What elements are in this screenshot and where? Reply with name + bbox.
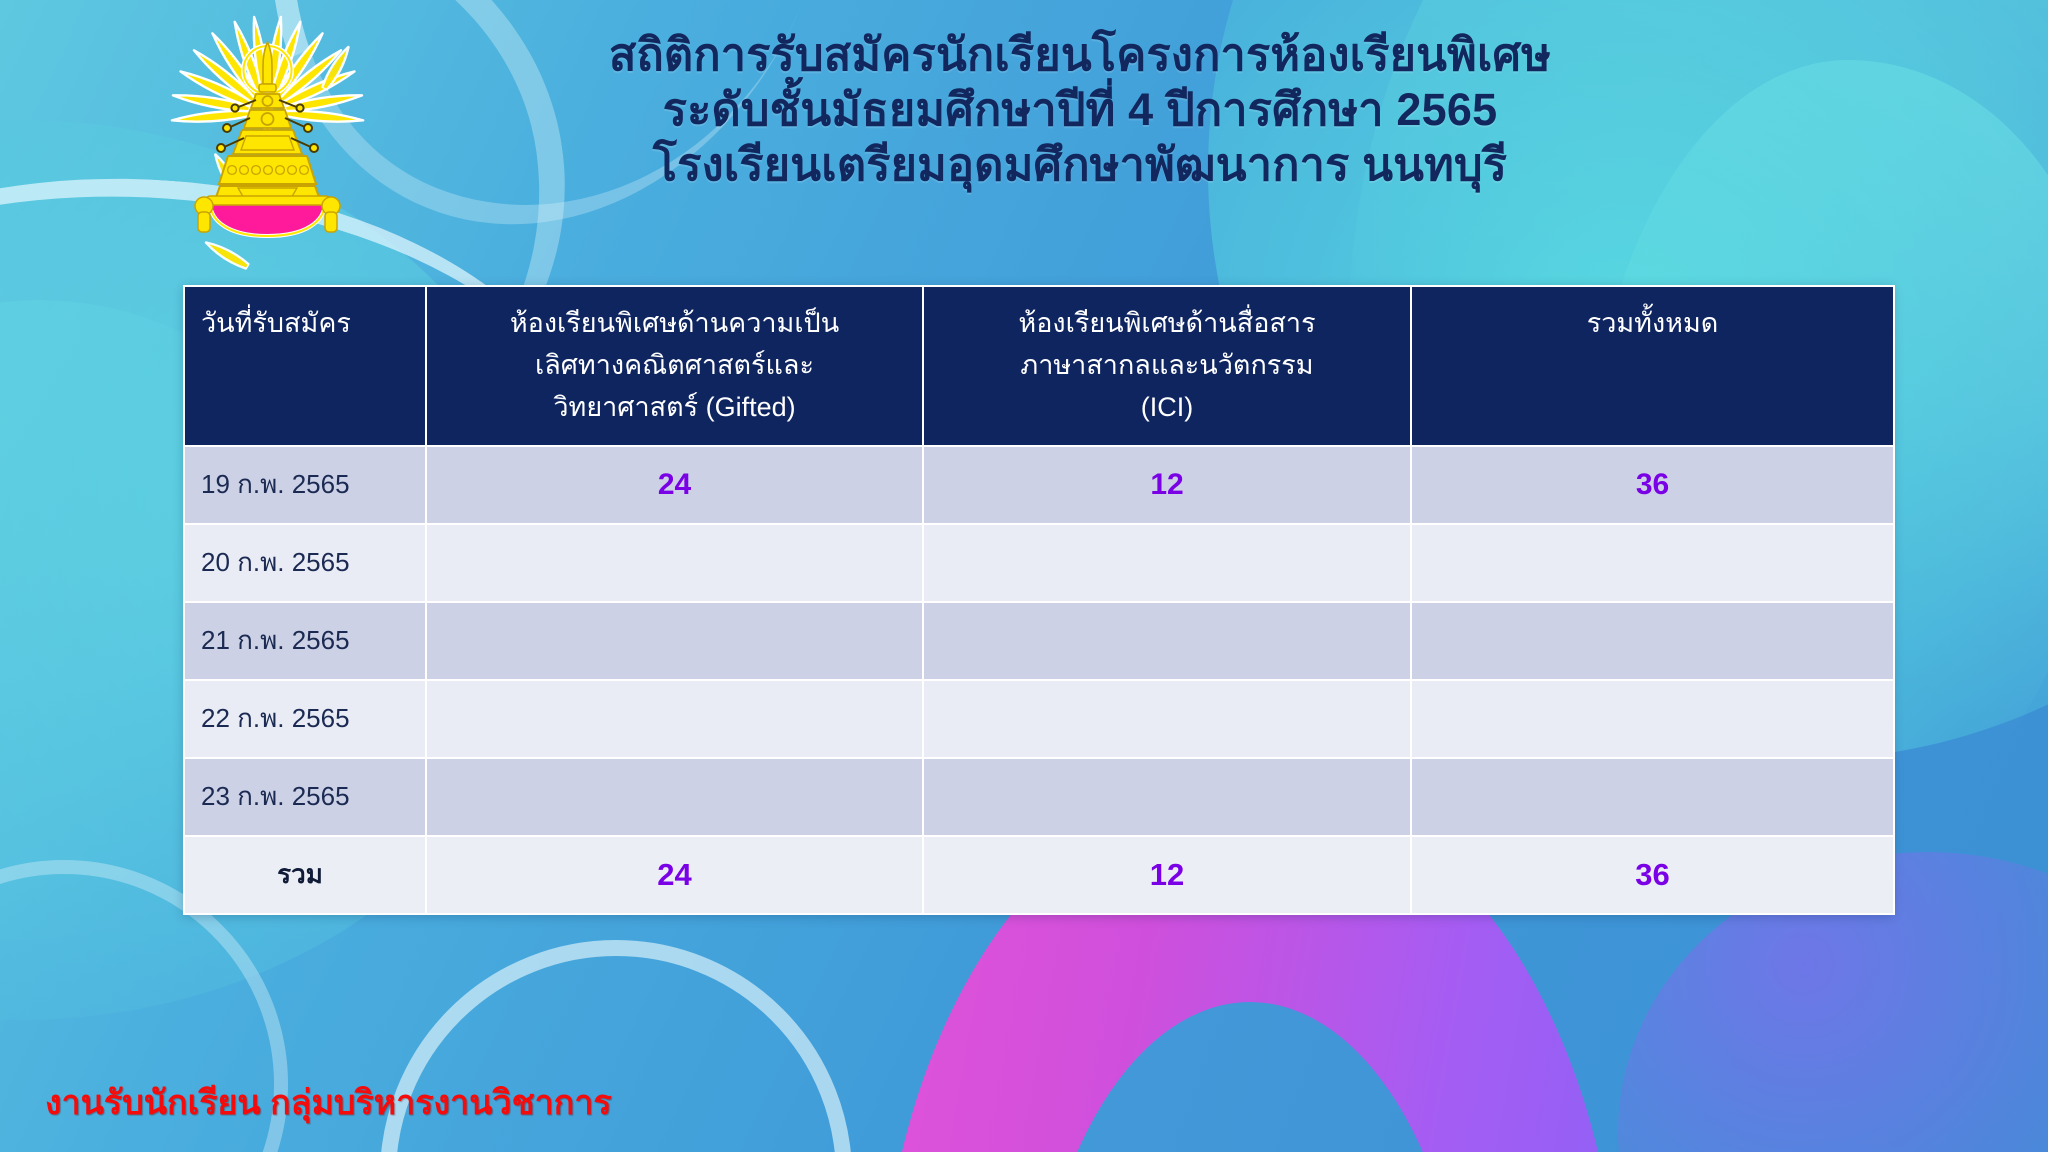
cell-ici xyxy=(923,758,1411,836)
cell-total: 36 xyxy=(1411,446,1894,524)
column-header-gifted-line-2: เลิศทางคณิตศาสตร์และ xyxy=(437,345,912,387)
cell-ici xyxy=(923,524,1411,602)
cell-total xyxy=(1411,758,1894,836)
cell-date: 21 ก.พ. 2565 xyxy=(184,602,426,680)
title-line-3: โรงเรียนเตรียมอุดมศึกษาพัฒนาการ นนทบุรี xyxy=(380,138,1780,193)
cell-gifted xyxy=(426,524,923,602)
column-header-ici-line-2: ภาษาสากลและนวัตกรรม xyxy=(934,345,1400,387)
title-line-1: สถิติการรับสมัครนักเรียนโครงการห้องเรียน… xyxy=(380,28,1780,83)
cell-total-label: รวม xyxy=(184,836,426,914)
column-header-ici-line-3: (ICI) xyxy=(934,387,1400,429)
cell-date: 19 ก.พ. 2565 xyxy=(184,446,426,524)
statistics-table-container: วันที่รับสมัคร ห้องเรียนพิเศษด้านความเป็… xyxy=(183,285,1893,915)
cell-total-grand: 36 xyxy=(1411,836,1894,914)
page-title: สถิติการรับสมัครนักเรียนโครงการห้องเรียน… xyxy=(380,28,1780,193)
table-header: วันที่รับสมัคร ห้องเรียนพิเศษด้านความเป็… xyxy=(184,286,1894,446)
column-header-ici: ห้องเรียนพิเศษด้านสื่อสาร ภาษาสากลและนวั… xyxy=(923,286,1411,446)
cell-gifted xyxy=(426,680,923,758)
table-row: 20 ก.พ. 2565 xyxy=(184,524,1894,602)
table-row: 22 ก.พ. 2565 xyxy=(184,680,1894,758)
school-emblem xyxy=(160,8,375,273)
cell-gifted xyxy=(426,758,923,836)
cell-ici xyxy=(923,680,1411,758)
cell-total xyxy=(1411,602,1894,680)
cell-date: 23 ก.พ. 2565 xyxy=(184,758,426,836)
cell-total xyxy=(1411,680,1894,758)
cell-total-ici: 12 xyxy=(923,836,1411,914)
cell-gifted xyxy=(426,602,923,680)
column-header-date: วันที่รับสมัคร xyxy=(184,286,426,446)
table-row: 23 ก.พ. 2565 xyxy=(184,758,1894,836)
column-header-gifted-line-3: วิทยาศาสตร์ (Gifted) xyxy=(437,387,912,429)
cell-ici xyxy=(923,602,1411,680)
column-header-gifted: ห้องเรียนพิเศษด้านความเป็น เลิศทางคณิตศา… xyxy=(426,286,923,446)
title-line-2: ระดับชั้นมัธยมศึกษาปีที่ 4 ปีการศึกษา 25… xyxy=(380,83,1780,138)
table-header-row: วันที่รับสมัคร ห้องเรียนพิเศษด้านความเป็… xyxy=(184,286,1894,446)
footer-credit: งานรับนักเรียน กลุ่มบริหารงานวิชาการ xyxy=(45,1075,612,1129)
table-total-row: รวม 24 12 36 xyxy=(184,836,1894,914)
cell-gifted: 24 xyxy=(426,446,923,524)
cell-total xyxy=(1411,524,1894,602)
cell-date: 22 ก.พ. 2565 xyxy=(184,680,426,758)
table-row: 19 ก.พ. 2565 24 12 36 xyxy=(184,446,1894,524)
table-row: 21 ก.พ. 2565 xyxy=(184,602,1894,680)
column-header-ici-line-1: ห้องเรียนพิเศษด้านสื่อสาร xyxy=(934,303,1400,345)
cell-total-gifted: 24 xyxy=(426,836,923,914)
column-header-gifted-line-1: ห้องเรียนพิเศษด้านความเป็น xyxy=(437,303,912,345)
cell-ici: 12 xyxy=(923,446,1411,524)
table-body: 19 ก.พ. 2565 24 12 36 20 ก.พ. 2565 21 ก.… xyxy=(184,446,1894,914)
cell-date: 20 ก.พ. 2565 xyxy=(184,524,426,602)
admission-statistics-table: วันที่รับสมัคร ห้องเรียนพิเศษด้านความเป็… xyxy=(183,285,1895,915)
column-header-grand-total: รวมทั้งหมด xyxy=(1411,286,1894,446)
